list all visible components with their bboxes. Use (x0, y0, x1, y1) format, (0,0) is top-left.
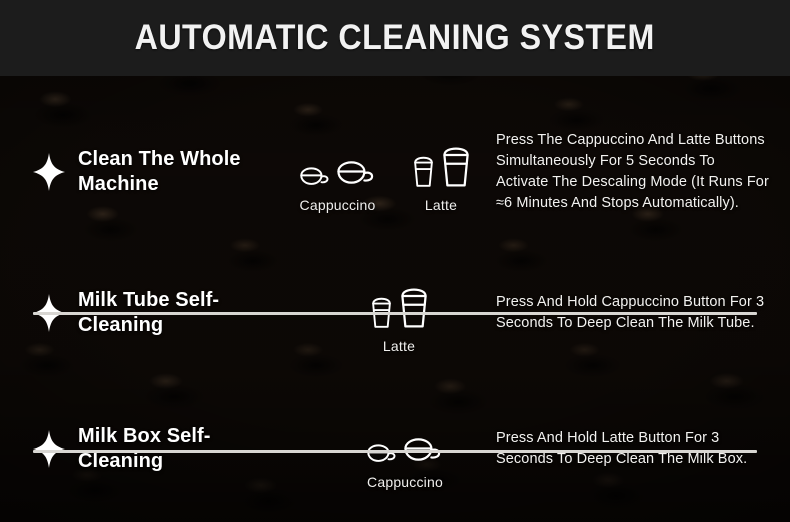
cappuccino-cup-icon (299, 162, 332, 188)
feature-description-cell: Press And Hold Latte Button For 3 Second… (490, 428, 790, 470)
feature-rows: Clean The Whole Machine (0, 76, 790, 522)
cappuccino-cup-icon (403, 432, 444, 465)
latte-glass-icon (440, 146, 472, 188)
icon-groups: Cappuccino (366, 409, 444, 490)
feature-label-cell: Clean The Whole Machine (0, 147, 278, 197)
beverage-icons-cell: Cappuccino (280, 132, 490, 213)
icon-caption: Cappuccino (300, 197, 376, 213)
feature-row-milk-box-self-cleaning: Milk Box Self-Cleaning (0, 394, 790, 504)
latte-glass-pair (411, 132, 472, 188)
feature-description: Press The Cappuccino And Latte Buttons S… (496, 130, 770, 214)
icon-groups: Cappuccino (299, 132, 472, 213)
row-divider (33, 312, 757, 315)
sparkle-icon (32, 429, 66, 469)
icon-caption: Cappuccino (367, 474, 443, 490)
icon-caption: Latte (383, 338, 415, 354)
header-band: AUTOMATIC CLEANING SYSTEM (0, 0, 790, 76)
feature-title: Milk Box Self-Cleaning (78, 424, 278, 474)
latte-glass-icon (398, 287, 430, 329)
cappuccino-cup-pair (299, 132, 377, 188)
page-title: AUTOMATIC CLEANING SYSTEM (135, 18, 655, 58)
latte-glass-pair (369, 273, 430, 329)
icon-group-cappuccino: Cappuccino (366, 409, 444, 490)
feature-row-clean-whole-machine: Clean The Whole Machine (0, 104, 790, 240)
automatic-cleaning-system-poster: AUTOMATIC CLEANING SYSTEM Clean The Whol… (0, 0, 790, 522)
beverage-icons-cell: Cappuccino (320, 409, 490, 490)
cappuccino-cup-pair (366, 409, 444, 465)
icon-caption: Latte (425, 197, 457, 213)
latte-glass-icon (411, 156, 436, 188)
feature-description-cell: Press The Cappuccino And Latte Buttons S… (490, 130, 790, 214)
row-divider (33, 450, 757, 453)
icon-group-cappuccino: Cappuccino (299, 132, 377, 213)
feature-description: Press And Hold Latte Button For 3 Second… (496, 428, 770, 470)
icon-group-latte: Latte (411, 132, 472, 213)
cappuccino-cup-icon (336, 155, 377, 188)
sparkle-icon (32, 152, 66, 192)
feature-label-cell: Milk Box Self-Cleaning (0, 424, 278, 474)
feature-title: Clean The Whole Machine (78, 147, 278, 197)
